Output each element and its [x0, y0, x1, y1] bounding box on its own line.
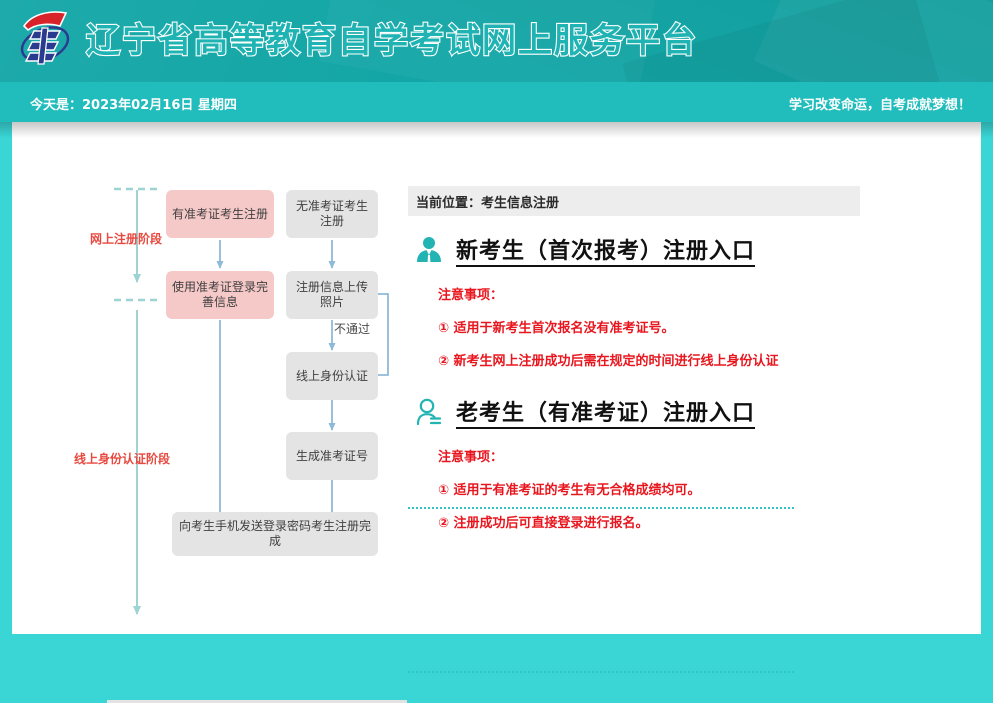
- site-slogan-text: 学习改变命运，自考成就梦想！: [789, 94, 971, 113]
- page-root: 辽宁省高等教育自学考试网上服务平台 今天是：2023年02月16日 星期四 学习…: [0, 0, 993, 648]
- old-candidate-note-2: ② 注册成功后可直接登录进行报名。: [438, 512, 755, 531]
- flow-box-online-identity-auth: 线上身份认证: [286, 352, 378, 400]
- flow-box-has-ticket-register: 有准考证考生注册: [166, 190, 274, 238]
- flow-box-send-password-done: 向考生手机发送登录密码考生注册完成: [172, 512, 378, 556]
- site-title: 辽宁省高等教育自学考试网上服务平台: [86, 13, 698, 62]
- old-candidate-note-1: ① 适用于有准考证的考生有无合格成绩均可。: [438, 479, 755, 498]
- old-candidate-entry-block: 老考生（有准考证）注册入口 注意事项： ① 适用于有准考证的考生有无合格成绩均可…: [414, 394, 755, 545]
- breadcrumb: 当前位置：考生信息注册: [408, 186, 860, 216]
- old-candidate-entry-link[interactable]: 老考生（有准考证）注册入口: [414, 394, 755, 428]
- new-candidate-note-1: ① 适用于新考生首次报名没有准考证号。: [438, 317, 779, 336]
- old-candidate-section-divider: [408, 671, 794, 673]
- flow-loop-label-fail: 不通过: [334, 320, 370, 337]
- new-candidate-entry-block: 新考生（首次报考）注册入口 注意事项： ① 适用于新考生首次报名没有准考证号。 …: [414, 232, 779, 383]
- new-candidate-person-icon: [414, 234, 444, 264]
- old-candidate-person-icon: [414, 396, 444, 426]
- content-card: 网上注册阶段 线上身份认证阶段 不通过 有准考证考生注册 使用准考证登录完善信息…: [12, 122, 981, 634]
- site-header-banner: 辽宁省高等教育自学考试网上服务平台: [0, 0, 993, 82]
- new-candidate-entry-link[interactable]: 新考生（首次报考）注册入口: [414, 232, 779, 266]
- new-candidate-entry-title: 新考生（首次报考）注册入口: [456, 233, 755, 265]
- flow-box-generate-ticket-number: 生成准考证号: [286, 432, 378, 480]
- old-candidate-notes-label: 注意事项：: [438, 446, 755, 465]
- flow-stage-label-identity-auth: 线上身份认证阶段: [74, 450, 170, 467]
- date-bar: 今天是：2023年02月16日 星期四 学习改变命运，自考成就梦想！: [0, 82, 993, 122]
- old-candidate-notes: 注意事项： ① 适用于有准考证的考生有无合格成绩均可。 ② 注册成功后可直接登录…: [438, 446, 755, 531]
- old-candidate-entry-title: 老考生（有准考证）注册入口: [456, 395, 755, 427]
- flow-box-no-ticket-register: 无准考证考生注册: [286, 190, 378, 238]
- new-candidate-note-2: ② 新考生网上注册成功后需在规定的时间进行线上身份认证: [438, 350, 779, 369]
- site-logo-icon: [14, 8, 80, 72]
- today-date-text: 今天是：2023年02月16日 星期四: [30, 94, 237, 113]
- flow-box-register-info-upload-photo: 注册信息上传照片: [286, 271, 378, 319]
- flow-stage-label-online-registration: 网上注册阶段: [90, 230, 162, 247]
- new-candidate-notes-label: 注意事项：: [438, 284, 779, 303]
- new-candidate-notes: 注意事项： ① 适用于新考生首次报名没有准考证号。 ② 新考生网上注册成功后需在…: [438, 284, 779, 369]
- flow-box-login-complete-info: 使用准考证登录完善信息: [166, 271, 274, 319]
- registration-flowchart: 网上注册阶段 线上身份认证阶段 不通过 有准考证考生注册 使用准考证登录完善信息…: [92, 172, 412, 622]
